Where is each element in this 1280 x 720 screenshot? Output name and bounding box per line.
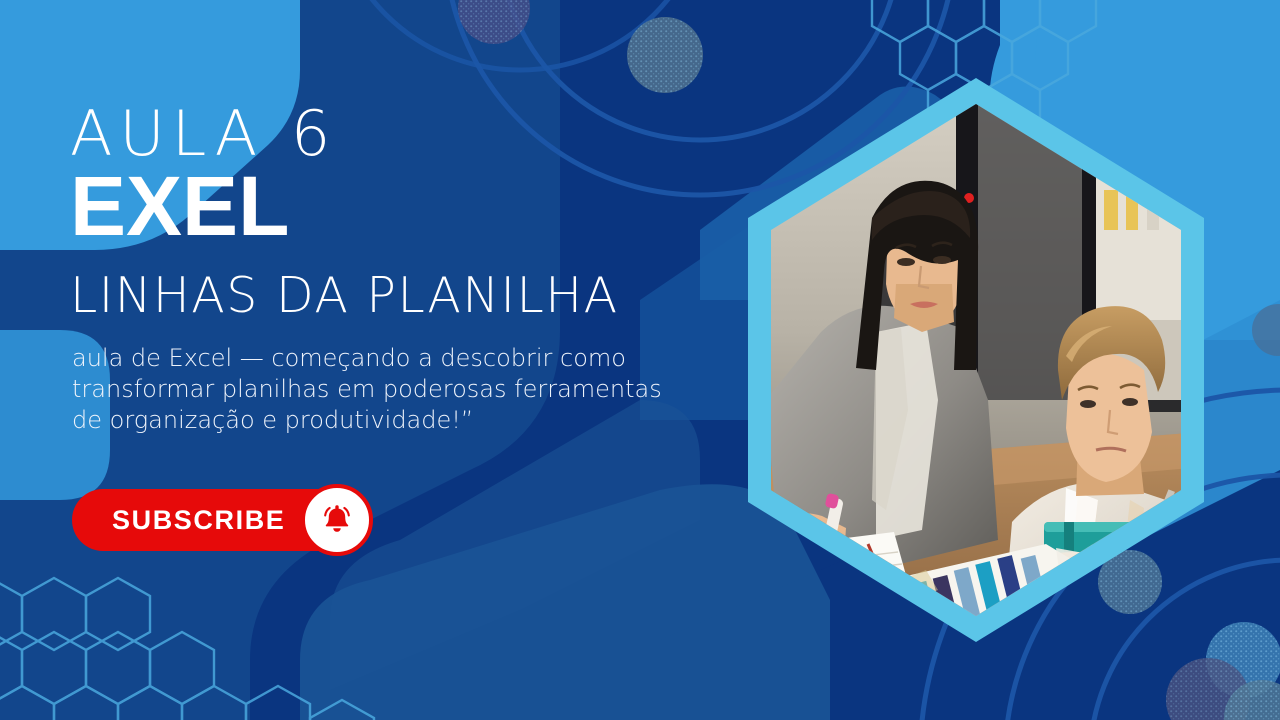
thumbnail-canvas: AULA 6 EXEL LINHAS DA PLANILHA aula de E… (0, 0, 1280, 720)
brand-title: EXEL (70, 170, 730, 242)
hexagon-photo-frame (726, 70, 1226, 650)
subtitle-text: LINHAS DA PLANILHA (70, 270, 730, 321)
bell-glyph (317, 500, 357, 540)
subscribe-button[interactable]: SUBSCRIBE (72, 489, 369, 551)
kicker-text: AULA 6 (70, 104, 730, 164)
headline-block: AULA 6 EXEL LINHAS DA PLANILHA aula de E… (70, 104, 730, 435)
subscribe-label: SUBSCRIBE (112, 505, 285, 536)
description-text: aula de Excel — começando a descobrir co… (72, 343, 672, 435)
photo-content (726, 70, 1226, 650)
notification-bell-icon[interactable] (301, 484, 373, 556)
